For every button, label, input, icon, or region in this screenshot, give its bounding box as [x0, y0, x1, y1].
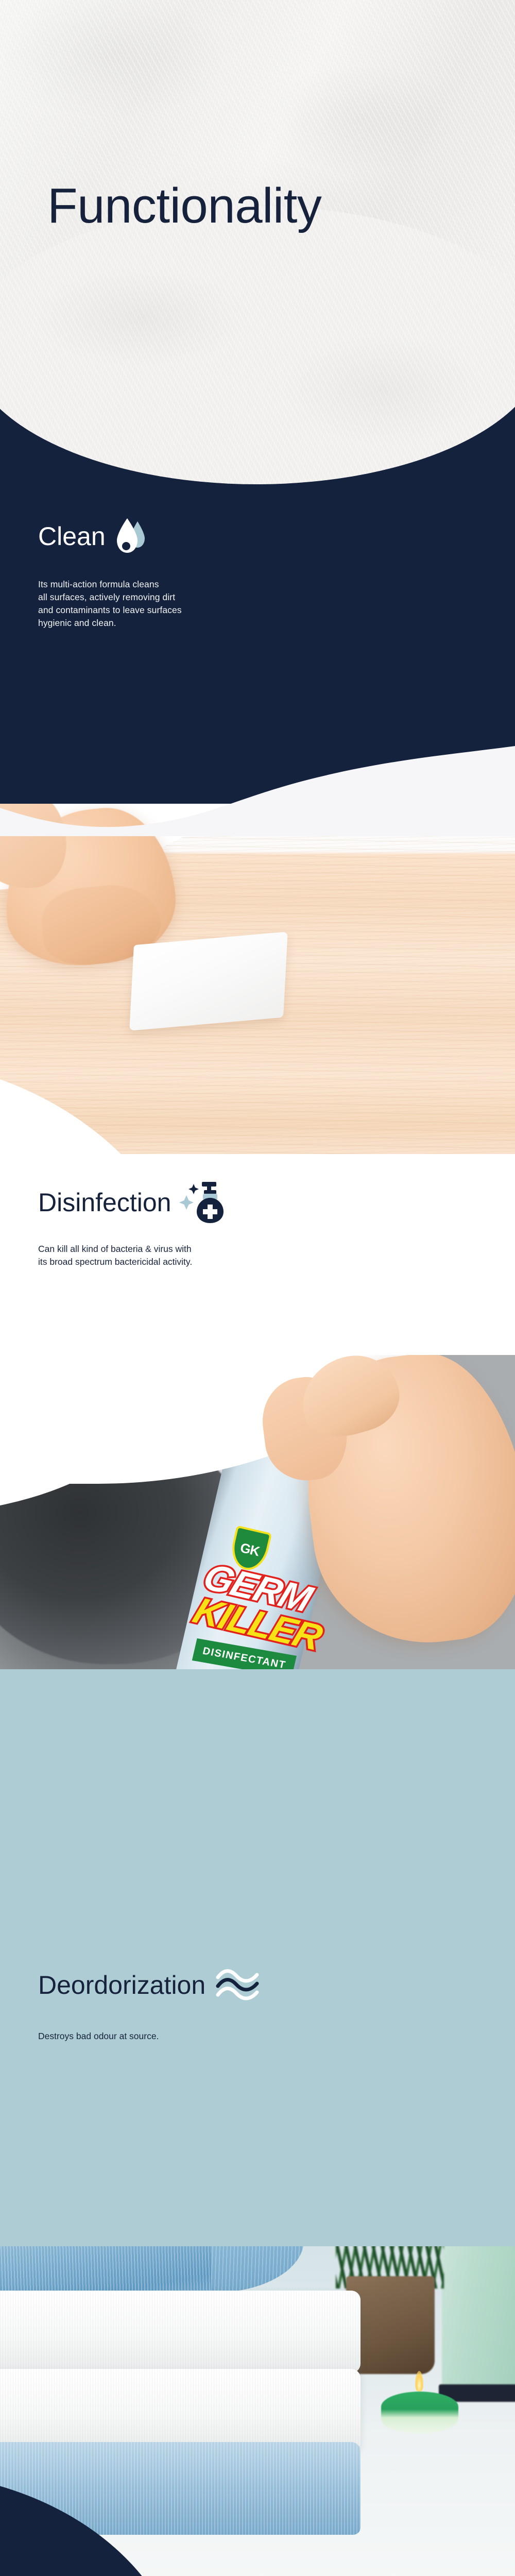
green-candle [381, 2392, 458, 2434]
water-drop-icon [115, 516, 147, 556]
deordorization-heading-group: Deordorization [38, 1969, 263, 2001]
deordorization-section-panel [0, 1669, 515, 2246]
white-towel-bottom [0, 2369, 360, 2451]
deordorization-heading: Deordorization [38, 1972, 205, 1998]
page-title: Functionality [47, 181, 321, 231]
disinfection-heading: Disinfection [38, 1190, 171, 1215]
white-towel-top [0, 2291, 360, 2373]
disinfection-description: Can kill all kind of bacteria & virus wi… [38, 1243, 280, 1269]
functionality-infographic-page: Functionality Clean Its multi-action for… [0, 0, 515, 2576]
clean-panel-bottom-wave [0, 746, 515, 836]
deordorization-description: Destroys bad odour at source. [38, 2030, 306, 2043]
clean-heading-group: Clean [38, 516, 147, 556]
wipe-photo [0, 793, 515, 1154]
deordorization-panel-top-wave [0, 1669, 515, 1798]
clean-description: Its multi-action formula cleans all surf… [38, 578, 260, 629]
wave-lines-icon [216, 1969, 263, 2001]
deordorization-panel-bottom-curve [0, 2026, 515, 2247]
sanitizer-bottle-sparkle-icon [179, 1181, 227, 1224]
cleaning-cloth [129, 931, 288, 1031]
disinfection-heading-group: Disinfection [38, 1181, 227, 1224]
clean-panel-top-curve [0, 206, 515, 484]
clean-heading: Clean [38, 523, 106, 549]
